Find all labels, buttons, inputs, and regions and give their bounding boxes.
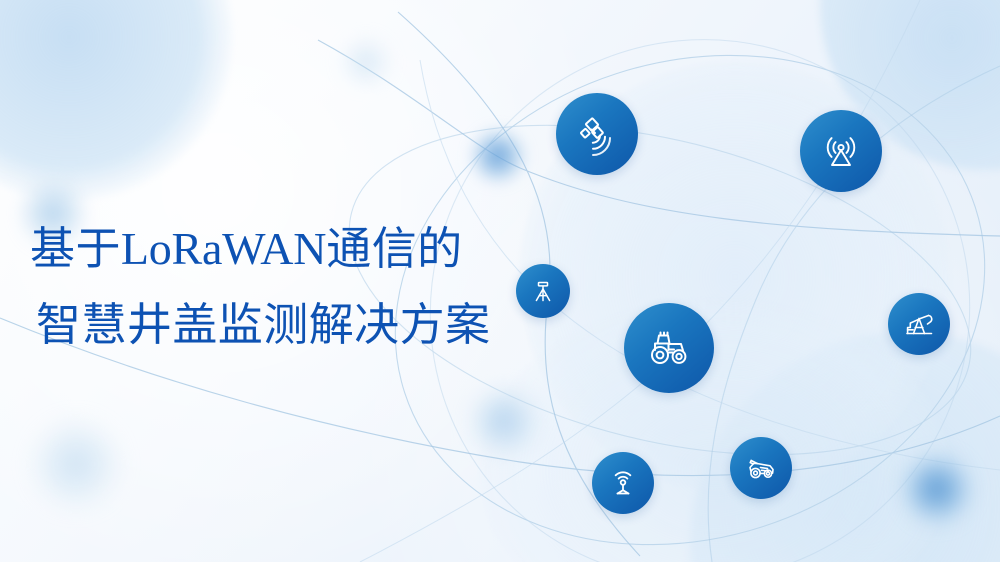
badge-radio-tower[interactable] xyxy=(800,110,882,192)
tractor-icon xyxy=(643,322,695,374)
survey-tripod-icon xyxy=(528,276,558,306)
radio-tower-icon xyxy=(818,128,864,174)
badge-harvester[interactable] xyxy=(730,437,792,499)
badge-tractor[interactable] xyxy=(624,303,714,393)
title-suffix: 通信的 xyxy=(326,223,462,274)
page-title-line-2: 智慧井盖监测解决方案 xyxy=(30,302,590,347)
title-block: 基于LoRaWAN通信的 智慧井盖监测解决方案 xyxy=(30,226,590,347)
badge-oil-pumpjack[interactable] xyxy=(888,293,950,355)
oil-pumpjack-icon xyxy=(901,306,937,342)
cover-slide: 基于LoRaWAN通信的 智慧井盖监测解决方案 xyxy=(0,0,1000,562)
badge-survey-tripod[interactable] xyxy=(516,264,570,318)
page-title-line-1: 基于LoRaWAN通信的 xyxy=(30,226,590,272)
satellite-icon xyxy=(575,112,619,156)
title-prefix: 基于 xyxy=(30,223,121,274)
badge-wireless-beacon[interactable] xyxy=(592,452,654,514)
badge-satellite[interactable] xyxy=(556,93,638,175)
harvester-icon xyxy=(743,450,779,486)
orbit-arc-5 xyxy=(318,40,1000,236)
wireless-beacon-icon xyxy=(606,466,640,500)
title-latin-lorawan: LoRaWAN xyxy=(121,223,326,274)
